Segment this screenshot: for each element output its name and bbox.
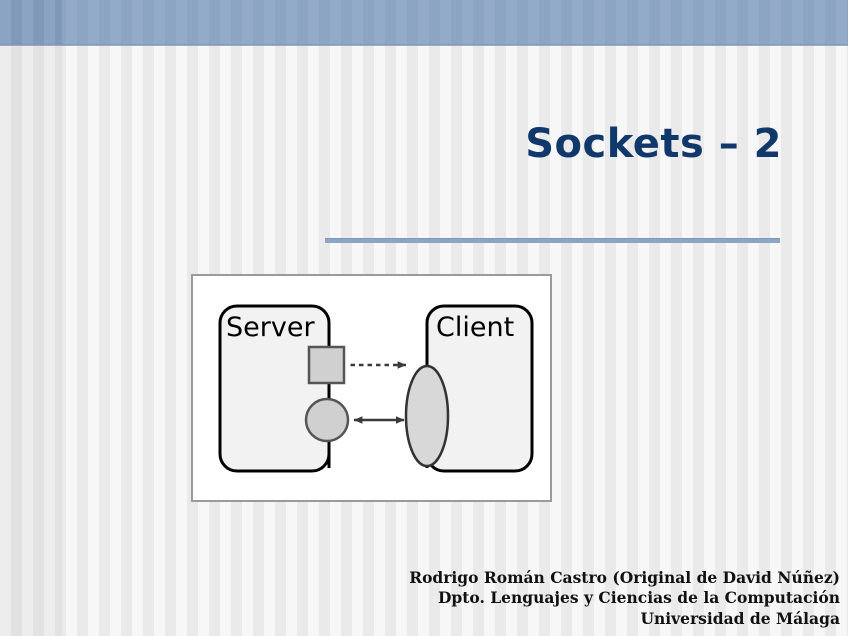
credit-line-department: Dpto. Lenguajes y Ciencias de la Computa… bbox=[409, 588, 840, 609]
client-server-socket-diagram: Server Client bbox=[191, 274, 552, 502]
title-underline-rule bbox=[325, 238, 780, 243]
diagram-node-server: Server bbox=[220, 306, 329, 471]
slide-title: Sockets – 2 bbox=[525, 122, 782, 166]
server-connection-socket-circle bbox=[306, 399, 348, 441]
slide-header-band-rule bbox=[0, 44, 848, 46]
diagram-canvas: Server Client bbox=[193, 276, 550, 500]
slide-header-band-left-accent bbox=[0, 0, 62, 45]
client-socket-ellipse bbox=[406, 366, 448, 466]
slide-left-accent-band bbox=[0, 0, 62, 636]
server-listen-socket-square bbox=[309, 347, 344, 383]
client-label: Client bbox=[436, 312, 514, 343]
author-credits: Rodrigo Román Castro (Original de David … bbox=[409, 568, 840, 630]
credit-line-author: Rodrigo Román Castro (Original de David … bbox=[409, 568, 840, 589]
credit-line-university: Universidad de Málaga bbox=[409, 609, 840, 630]
slide-header-band bbox=[0, 0, 848, 45]
server-label: Server bbox=[226, 312, 315, 343]
presentation-slide: Sockets – 2 Server bbox=[0, 0, 848, 636]
